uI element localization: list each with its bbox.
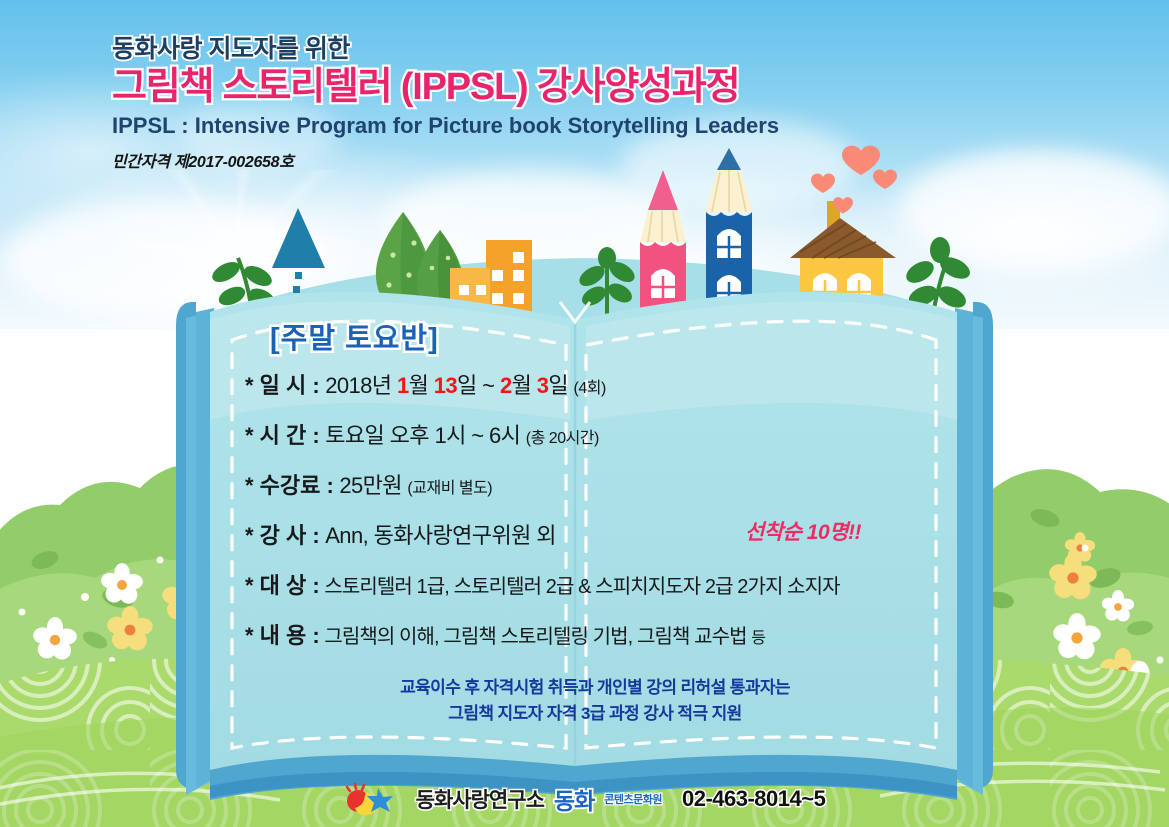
certification-number: 민간자격 제2017-002658호: [112, 148, 932, 172]
limited-seats-badge: 선착순 10명!!: [745, 522, 861, 543]
info-row-value: (교재비 별도): [407, 480, 492, 497]
brand-name: 동화: [554, 782, 594, 816]
info-row-value: 스토리텔러 1급, 스토리텔러 2급 & 스피치지도자 2급 2가지 소지자: [320, 576, 840, 598]
info-row-value: 25만원: [334, 473, 408, 498]
info-row-value: 13: [434, 373, 457, 398]
support-note-line-1: 교육이수 후 자격시험 취득과 개인별 강의 리허설 통과자는: [225, 675, 965, 701]
info-row-label: * 수강료 :: [245, 473, 334, 498]
header-subtitle: IPPSL : Intensive Program for Picture bo…: [112, 113, 932, 139]
flower-icon-group-right: [1049, 532, 1165, 714]
info-row: * 시 간 : 토요일 오후 1시 ~ 6시 (총 20시간): [245, 425, 965, 447]
info-row-value: 등: [751, 630, 765, 647]
info-row: * 강 사 : Ann, 동화사랑연구위원 외선착순 10명!!: [245, 525, 965, 547]
green-hills-right: [950, 469, 1169, 720]
poster-header: 동화사랑 지도자를 위한 그림책 스토리텔러 (IPPSL) 강사양성과정 IP…: [112, 36, 932, 172]
organization-name: 동화사랑연구소: [416, 784, 544, 814]
info-row-label: * 내 용 :: [245, 623, 320, 648]
support-note-line-2: 그림책 지도자 자격 3급 과정 강사 적극 지원: [225, 701, 965, 727]
info-row-label: * 시 간 :: [245, 423, 320, 448]
info-row: * 대 상 : 스토리텔러 1급, 스토리텔러 2급 & 스피치지도자 2급 2…: [245, 575, 965, 597]
info-row-value: 월: [512, 373, 537, 398]
info-row-value: 2018년: [320, 373, 397, 398]
info-row-value: 토요일 오후 1시 ~ 6시: [320, 423, 526, 448]
info-row-label: * 일 시 :: [245, 373, 320, 398]
info-row-value: Ann, 동화사랑연구위원 외: [320, 523, 556, 548]
info-row-value: 2: [500, 373, 512, 398]
info-row-value: (총 20시간): [526, 430, 599, 447]
info-row-value: 일: [548, 373, 573, 398]
cloud-icon: [0, 200, 320, 320]
organization-logo-icon: [344, 782, 406, 816]
support-note: 교육이수 후 자격시험 취득과 개인별 강의 리허설 통과자는 그림책 지도자 …: [225, 675, 965, 728]
info-row: * 내 용 : 그림책의 이해, 그림책 스토리텔링 기법, 그림책 교수법 등: [245, 625, 965, 647]
class-title-heading: [주말 토요반]: [270, 315, 965, 357]
info-row-value: 일 ~: [457, 373, 500, 398]
page-title: 그림책 스토리텔러 (IPPSL) 강사양성과정: [112, 66, 932, 110]
info-row-label: * 대 상 :: [245, 573, 320, 598]
info-row-list: * 일 시 : 2018년 1월 13일 ~ 2월 3일 (4회)* 시 간 :…: [225, 375, 965, 647]
info-row-value: 3: [537, 373, 549, 398]
book-content-area: [주말 토요반] * 일 시 : 2018년 1월 13일 ~ 2월 3일 (4…: [225, 315, 965, 745]
header-eyebrow: 동화사랑 지도자를 위한: [112, 36, 932, 64]
info-row: * 일 시 : 2018년 1월 13일 ~ 2월 3일 (4회): [245, 375, 965, 397]
info-row-value: 월: [409, 373, 434, 398]
flower-icon-group-left: [19, 557, 208, 699]
info-row: * 수강료 : 25만원 (교재비 별도): [245, 475, 965, 497]
cloud-icon: [900, 150, 1169, 270]
poster-footer: 동화사랑연구소 동화 콘텐츠문화원 02-463-8014~5: [0, 770, 1169, 827]
info-row-value: (4회): [574, 380, 606, 397]
contact-phone-number: 02-463-8014~5: [682, 786, 825, 812]
poster-root: 동화사랑 지도자를 위한 그림책 스토리텔러 (IPPSL) 강사양성과정 IP…: [0, 0, 1169, 827]
info-row-value: 그림책의 이해, 그림책 스토리텔링 기법, 그림책 교수법: [320, 626, 752, 648]
info-row-value: 1: [397, 373, 409, 398]
info-row-label: * 강 사 :: [245, 523, 320, 548]
brand-subtitle: 콘텐츠문화원: [604, 791, 662, 807]
